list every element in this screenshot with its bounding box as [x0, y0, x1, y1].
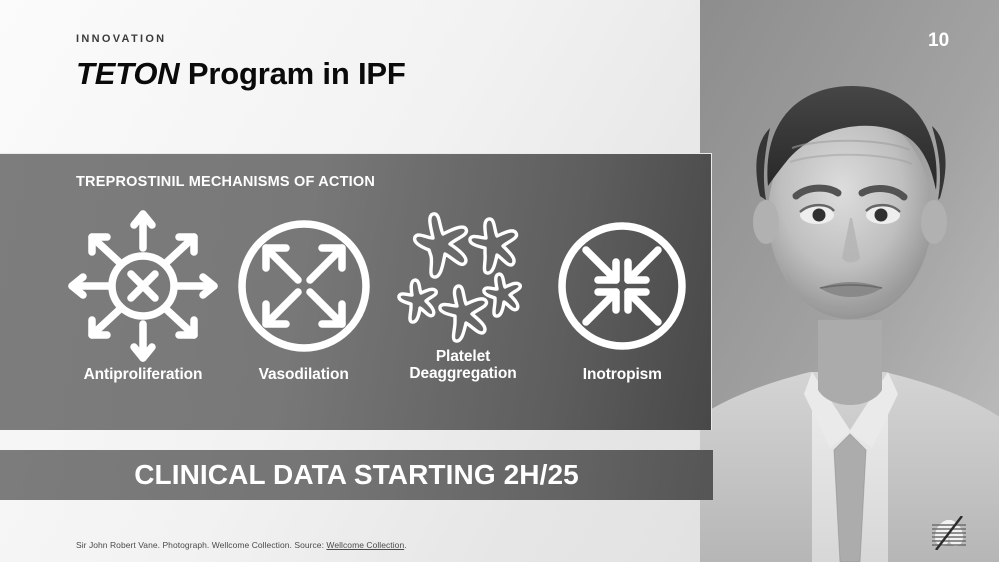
moa-label-inotropism: Inotropism	[583, 366, 662, 383]
moa-item-platelet-deaggregation[interactable]: PlateletDeaggregation	[383, 206, 542, 416]
radiating-arrows-circle-x-icon	[62, 206, 224, 366]
portrait-photo	[700, 0, 999, 562]
moa-icon-row: Antiproliferation	[62, 206, 702, 416]
united-therapeutics-logo	[928, 516, 970, 550]
moa-label-platelet-deaggregation: PlateletDeaggregation	[409, 348, 516, 383]
eyebrow-label: INNOVATION	[76, 33, 166, 45]
slide-canvas: INNOVATION TETON Program in IPF 10 TREPR…	[0, 0, 999, 562]
title-rest-part: Program in IPF	[180, 56, 406, 91]
photo-credit-period: .	[404, 540, 406, 550]
circle-converge-arrows-icon	[552, 206, 692, 366]
moa-panel: TREPROSTINIL MECHANISMS OF ACTION	[0, 153, 712, 430]
moa-label-antiproliferation: Antiproliferation	[84, 366, 203, 383]
scattered-platelets-icon	[393, 206, 533, 348]
moa-label-platelet-line1: Platelet	[436, 348, 490, 365]
moa-label-vasodilation: Vasodilation	[259, 366, 349, 383]
clinical-data-banner: CLINICAL DATA STARTING 2H/25	[0, 450, 713, 500]
moa-item-vasodilation[interactable]: Vasodilation	[224, 206, 383, 416]
page-number: 10	[928, 30, 949, 52]
wellcome-collection-link[interactable]: Wellcome Collection	[326, 540, 404, 550]
moa-heading: TREPROSTINIL MECHANISMS OF ACTION	[76, 174, 375, 190]
moa-label-platelet-line2: Deaggregation	[409, 365, 516, 382]
photo-credit-text: Sir John Robert Vane. Photograph. Wellco…	[76, 540, 326, 550]
circle-expand-arrows-icon	[234, 206, 374, 366]
photo-credit-footer: Sir John Robert Vane. Photograph. Wellco…	[76, 540, 407, 550]
page-title: TETON Program in IPF	[76, 56, 406, 92]
title-italic-part: TETON	[76, 56, 180, 91]
clinical-data-banner-text: CLINICAL DATA STARTING 2H/25	[134, 459, 579, 491]
moa-item-inotropism[interactable]: Inotropism	[543, 206, 702, 416]
moa-item-antiproliferation[interactable]: Antiproliferation	[62, 206, 224, 416]
